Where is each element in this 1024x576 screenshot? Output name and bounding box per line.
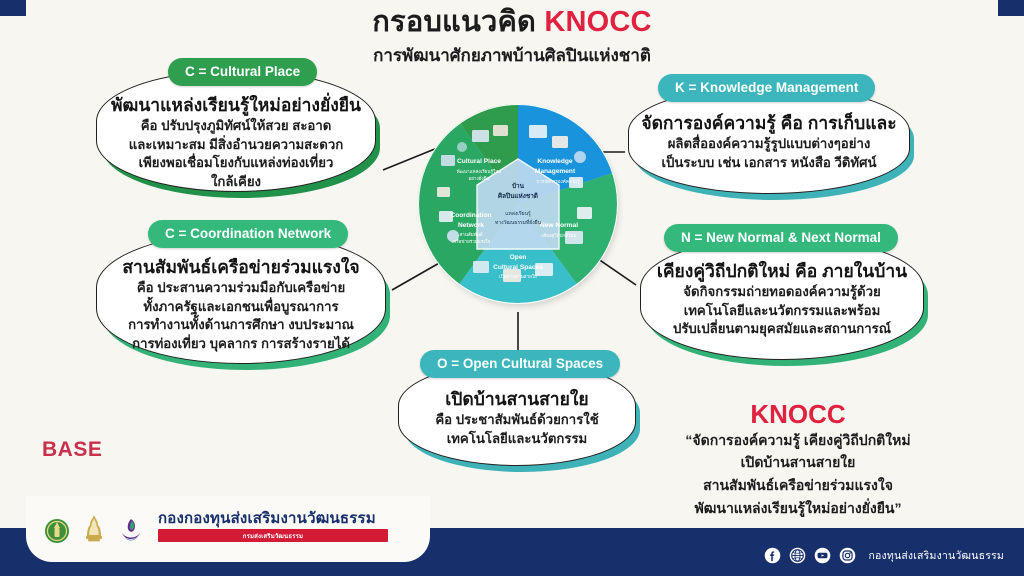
wheel-sublabel2-coordination-network: เครือข่ายร่วมแรงใจ: [452, 238, 491, 244]
card-open-cultural-spaces[interactable]: O = Open Cultural Spaces เปิดบ้านสานสายใ…: [398, 362, 646, 466]
wheel-svg: Cultural Place พัฒนาแหล่งเรียนรู้ใหม่ อย…: [417, 103, 619, 305]
wheel-sublabel-open-cultural-spaces: เปิดบ้านสานสายใย: [499, 274, 537, 279]
card-knowledge-management-body: ผลิตสื่อองค์ความรู้รูปแบบต่างๆอย่าง เป็น…: [635, 135, 903, 172]
card-open-cultural-spaces-line-1: คือ ประชาสัมพันธ์ด้วยการใช้: [425, 411, 609, 430]
card-new-normal-chip[interactable]: N = New Normal & Next Normal: [664, 224, 898, 252]
footer-brand-bar-text: กรมส่งเสริมวัฒนธรรม: [243, 531, 303, 541]
wheel-label-coordination-network-2: Network: [458, 222, 484, 229]
knocc-summary-line-2: เปิดบ้านสานสายใย: [648, 451, 948, 474]
card-coordination-network-heading: สานสัมพันธ์เครือข่ายร่วมแรงใจ: [103, 257, 379, 279]
card-new-normal-line-3: ปรับเปลี่ยนตามยุคสมัยและสถานการณ์: [667, 320, 897, 339]
infographic-canvas: กรอบแนวคิด KNOCC การพัฒนาศักยภาพบ้านศิลป…: [0, 0, 1024, 576]
page-title-thai: กรอบแนวคิด: [372, 6, 544, 38]
card-new-normal-line-2: เทคโนโลยีและนวัตกรรมและพร้อม: [667, 302, 897, 321]
instagram-icon[interactable]: [839, 547, 856, 564]
card-coordination-network-line-1: คือ ประสานความร่วมมือกับเครือข่าย: [123, 279, 359, 298]
wheel-label-open-cultural-spaces-2: Cultural Spaces: [493, 264, 543, 271]
page-header: กรอบแนวคิด KNOCC การพัฒนาศักยภาพบ้านศิลป…: [0, 6, 1024, 69]
knocc-summary-line-1: “จัดการองค์ความรู้ เคียงคู่วิถีปกติใหม่: [648, 429, 948, 452]
wheel-center-line4: ทางวัฒนธรรมที่ยั่งยืน: [495, 219, 542, 226]
card-cultural-place[interactable]: C = Cultural Place พัฒนาแหล่งเรียนรู้ใหม…: [96, 70, 386, 192]
page-title-knocc: KNOCC: [544, 6, 651, 38]
ministry-culture-seal-logo: [42, 512, 72, 546]
card-cultural-place-line-2: และเหมาะสม มีสิ่งอำนวยความสะดวก: [125, 136, 347, 155]
card-knowledge-management-bubble: จัดการองค์ความรู้ คือ การเก็บและ ผลิตสื่…: [628, 86, 910, 194]
footer-brand: กองกองทุนส่งเสริมงานวัฒนธรรม กรมส่งเสริม…: [158, 511, 388, 542]
wheel-label-open-cultural-spaces: Open: [510, 254, 527, 261]
knocc-wheel-diagram: Cultural Place พัฒนาแหล่งเรียนรู้ใหม่ อย…: [417, 103, 623, 309]
card-cultural-place-bubble: พัฒนาแหล่งเรียนรู้ใหม่อย่างยั่งยืน คือ ป…: [96, 70, 376, 192]
card-new-normal-body: จัดกิจกรรมถ่ายทอดองค์ความรู้ด้วย เทคโนโล…: [647, 283, 917, 339]
footer-logos: [42, 512, 146, 546]
card-coordination-network-line-3: การทำงานทั้งด้านการศึกษา งบประมาณ: [123, 316, 359, 335]
card-new-normal-line-1: จัดกิจกรรมถ่ายทอดองค์ความรู้ด้วย: [667, 283, 897, 302]
wheel-sublabel-new-normal: เคียงคู่วิถีปกติใหม่: [542, 232, 577, 239]
page-title: กรอบแนวคิด KNOCC: [0, 6, 1024, 39]
wheel-sublabel-knowledge-management: การจัดการองค์ความรู้: [536, 178, 580, 185]
knocc-summary: KNOCC “จัดการองค์ความรู้ เคียงคู่วิถีปกต…: [648, 400, 948, 519]
card-new-normal-heading: เคียงคู่วิถีปกติใหม่ คือ ภายในบ้าน: [647, 261, 917, 283]
wheel-sublabel-cultural-place: พัฒนาแหล่งเรียนรู้ใหม่: [457, 168, 502, 175]
card-coordination-network-body: คือ ประสานความร่วมมือกับเครือข่าย ทั้งภา…: [103, 279, 379, 354]
card-new-normal[interactable]: N = New Normal & Next Normal เคียงคู่วิถ…: [640, 236, 934, 360]
card-knowledge-management-line-2: เป็นระบบ เช่น เอกสาร หนังสือ วีดิทัศน์: [655, 154, 883, 173]
website-globe-icon[interactable]: [789, 547, 806, 564]
card-coordination-network-chip[interactable]: C = Coordination Network: [148, 220, 348, 248]
wheel-center-line1: บ้าน: [512, 181, 525, 190]
royal-crown-emblem-logo: [79, 512, 109, 546]
youtube-icon[interactable]: [814, 547, 831, 564]
card-new-normal-bubble: เคียงคู่วิถีปกติใหม่ คือ ภายในบ้าน จัดกิ…: [640, 236, 924, 360]
card-coordination-network-line-2: ทั้งภาครัฐและเอกชนเพื่อบูรณาการ: [123, 298, 359, 317]
wheel-center-line2: ศิลปินแห่งชาติ: [498, 192, 538, 200]
knocc-summary-line-4: พัฒนาแหล่งเรียนรู้ใหม่อย่างยั่งยืน”: [648, 497, 948, 520]
footer-social: กองทุนส่งเสริมงานวัฒนธรรม: [764, 547, 1004, 564]
facebook-icon[interactable]: [764, 547, 781, 564]
wheel-label-cultural-place: Cultural Place: [457, 158, 501, 165]
page-subtitle: การพัฒนาศักยภาพบ้านศิลปินแห่งชาติ: [0, 42, 1024, 69]
card-cultural-place-line-4: ใกล้เคียง: [125, 173, 347, 192]
wheel-sublabel-coordination-network: สานสัมพันธ์: [459, 231, 483, 237]
card-open-cultural-spaces-chip[interactable]: O = Open Cultural Spaces: [420, 350, 620, 378]
card-cultural-place-heading: พัฒนาแหล่งเรียนรู้ใหม่อย่างยั่งยืน: [105, 95, 367, 117]
knocc-summary-title: KNOCC: [648, 400, 948, 429]
base-label: BASE: [42, 438, 102, 462]
wheel-center-line3: แหล่งเรียนรู้: [505, 210, 531, 217]
knocc-summary-line-3: สานสัมพันธ์เครือข่ายร่วมแรงใจ: [648, 474, 948, 497]
wheel-label-knowledge-management: Knowledge: [537, 158, 573, 165]
wheel-sublabel2-cultural-place: อย่างยั่งยืน: [468, 175, 490, 181]
card-cultural-place-line-1: คือ ปรับปรุงภูมิทัศน์ให้สวย สะอาด: [125, 117, 347, 136]
wheel-label-new-normal: New Normal: [540, 222, 578, 229]
card-coordination-network[interactable]: C = Coordination Network สานสัมพันธ์เครื…: [96, 232, 396, 364]
card-cultural-place-line-3: เพียงพอเชื่อมโยงกับแหล่งท่องเที่ยว: [125, 154, 347, 173]
footer-brand-bar: กรมส่งเสริมวัฒนธรรม: [158, 529, 388, 542]
card-coordination-network-line-4: การท่องเที่ยว บุคลากร การสร้างรายได้: [123, 335, 359, 354]
card-knowledge-management-chip[interactable]: K = Knowledge Management: [658, 74, 875, 102]
footer-social-text: กองทุนส่งเสริมงานวัฒนธรรม: [868, 547, 1004, 564]
card-cultural-place-body: คือ ปรับปรุงภูมิทัศน์ให้สวย สะอาด และเหม…: [105, 117, 367, 192]
card-open-cultural-spaces-heading: เปิดบ้านสานสายใย: [405, 389, 629, 411]
card-open-cultural-spaces-body: คือ ประชาสัมพันธ์ด้วยการใช้ เทคโนโลยีและ…: [405, 411, 629, 448]
wheel-label-knowledge-management-2: Management: [535, 168, 576, 175]
culture-promotion-department-logo: [116, 512, 146, 546]
card-knowledge-management[interactable]: K = Knowledge Management จัดการองค์ความร…: [628, 86, 920, 194]
footer-brand-text: กองกองทุนส่งเสริมงานวัฒนธรรม: [158, 511, 388, 526]
card-coordination-network-bubble: สานสัมพันธ์เครือข่ายร่วมแรงใจ คือ ประสาน…: [96, 232, 386, 364]
card-open-cultural-spaces-line-2: เทคโนโลยีและนวัตกรรม: [425, 430, 609, 449]
wheel-label-coordination-network: Coordination: [450, 212, 491, 219]
card-cultural-place-chip[interactable]: C = Cultural Place: [168, 58, 317, 86]
card-knowledge-management-heading: จัดการองค์ความรู้ คือ การเก็บและ: [635, 113, 903, 135]
card-knowledge-management-line-1: ผลิตสื่อองค์ความรู้รูปแบบต่างๆอย่าง: [655, 135, 883, 154]
